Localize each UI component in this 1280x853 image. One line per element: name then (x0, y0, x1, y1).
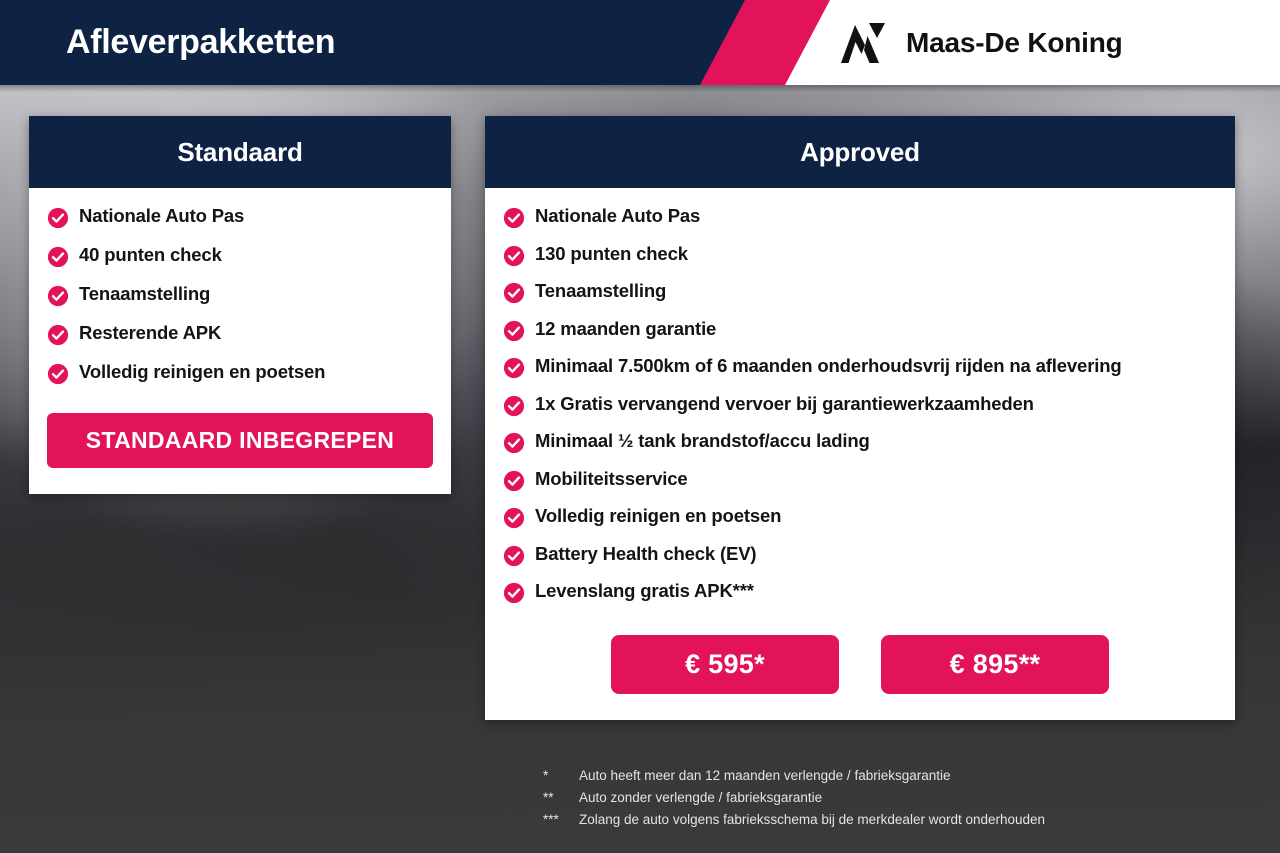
feature-label: Battery Health check (EV) (535, 542, 756, 566)
feature-item: Nationale Auto Pas (47, 204, 433, 229)
check-circle-icon (47, 324, 69, 346)
check-circle-icon (503, 320, 525, 342)
footnote-row: *Auto heeft meer dan 12 maanden verlengd… (543, 765, 1243, 787)
feature-label: Tenaamstelling (79, 282, 210, 306)
feature-item: 40 punten check (47, 243, 433, 268)
check-circle-icon (47, 363, 69, 385)
check-circle-icon (47, 285, 69, 307)
feature-item: Resterende APK (47, 321, 433, 346)
feature-label: Tenaamstelling (535, 279, 666, 303)
feature-item: Nationale Auto Pas (503, 204, 1217, 229)
footnote-marker: ** (543, 787, 579, 809)
feature-item: Mobiliteitsservice (503, 467, 1217, 492)
check-circle-icon (503, 507, 525, 529)
check-circle-icon (503, 432, 525, 454)
check-circle-icon (503, 545, 525, 567)
feature-label: Minimaal ½ tank brandstof/accu lading (535, 429, 870, 453)
page-title: Afleverpakketten (66, 0, 335, 85)
footnote-text: Zolang de auto volgens fabrieksschema bi… (579, 809, 1243, 831)
card-title-standaard: Standaard (29, 116, 451, 188)
check-circle-icon (503, 357, 525, 379)
footnote-text: Auto zonder verlengde / fabrieksgarantie (579, 787, 1243, 809)
package-card-standaard: Standaard Nationale Auto Pas40 punten ch… (29, 116, 451, 494)
feature-item: Minimaal ½ tank brandstof/accu lading (503, 429, 1217, 454)
feature-label: Volledig reinigen en poetsen (535, 504, 781, 528)
maas-de-koning-m-mark (838, 23, 892, 63)
feature-item: Battery Health check (EV) (503, 542, 1217, 567)
check-circle-icon (503, 470, 525, 492)
page-header: Afleverpakketten Maas-De Koning (0, 0, 1280, 85)
price-button-row: € 595*€ 895** (485, 617, 1235, 720)
check-circle-icon (503, 582, 525, 604)
feature-item: Minimaal 7.500km of 6 maanden onderhouds… (503, 354, 1217, 379)
feature-label: Volledig reinigen en poetsen (79, 360, 325, 384)
feature-item: Levenslang gratis APK*** (503, 579, 1217, 604)
check-circle-icon (47, 246, 69, 268)
price-button-1[interactable]: € 595* (611, 635, 839, 694)
feature-label: Mobiliteitsservice (535, 467, 688, 491)
feature-label: Nationale Auto Pas (79, 204, 244, 228)
feature-label: 1x Gratis vervangend vervoer bij garanti… (535, 392, 1034, 416)
standaard-badge-wrap: STANDAARD INBEGREPEN (29, 399, 451, 494)
feature-list-approved: Nationale Auto Pas130 punten checkTenaam… (503, 204, 1217, 604)
package-card-approved: Approved Nationale Auto Pas130 punten ch… (485, 116, 1235, 720)
feature-label: 12 maanden garantie (535, 317, 716, 341)
footnote-row: **Auto zonder verlengde / fabrieksgarant… (543, 787, 1243, 809)
card-body-standaard: Nationale Auto Pas40 punten checkTenaams… (29, 188, 451, 385)
footnote-text: Auto heeft meer dan 12 maanden verlengde… (579, 765, 1243, 787)
feature-label: Resterende APK (79, 321, 221, 345)
price-button-2[interactable]: € 895** (881, 635, 1109, 694)
feature-item: Volledig reinigen en poetsen (503, 504, 1217, 529)
standaard-included-button[interactable]: STANDAARD INBEGREPEN (47, 413, 433, 468)
feature-item: 1x Gratis vervangend vervoer bij garanti… (503, 392, 1217, 417)
brand-name: Maas-De Koning (906, 27, 1123, 59)
check-circle-icon (503, 395, 525, 417)
footnote-marker: * (543, 765, 579, 787)
header-shadow (0, 85, 1280, 92)
feature-label: Levenslang gratis APK*** (535, 579, 754, 603)
card-body-approved: Nationale Auto Pas130 punten checkTenaam… (485, 188, 1235, 604)
feature-label: 40 punten check (79, 243, 222, 267)
footnote-marker: *** (543, 809, 579, 831)
footnote-row: ***Zolang de auto volgens fabrieksschema… (543, 809, 1243, 831)
check-circle-icon (503, 245, 525, 267)
feature-item: Volledig reinigen en poetsen (47, 360, 433, 385)
feature-item: Tenaamstelling (503, 279, 1217, 304)
footnotes: *Auto heeft meer dan 12 maanden verlengd… (543, 765, 1243, 831)
feature-item: Tenaamstelling (47, 282, 433, 307)
feature-item: 130 punten check (503, 242, 1217, 267)
feature-item: 12 maanden garantie (503, 317, 1217, 342)
feature-label: Minimaal 7.500km of 6 maanden onderhouds… (535, 354, 1122, 378)
check-circle-icon (503, 282, 525, 304)
card-title-approved: Approved (485, 116, 1235, 188)
brand-logo: Maas-De Koning (838, 0, 1123, 85)
feature-label: 130 punten check (535, 242, 688, 266)
feature-label: Nationale Auto Pas (535, 204, 700, 228)
check-circle-icon (47, 207, 69, 229)
feature-list-standaard: Nationale Auto Pas40 punten checkTenaams… (47, 204, 433, 385)
check-circle-icon (503, 207, 525, 229)
